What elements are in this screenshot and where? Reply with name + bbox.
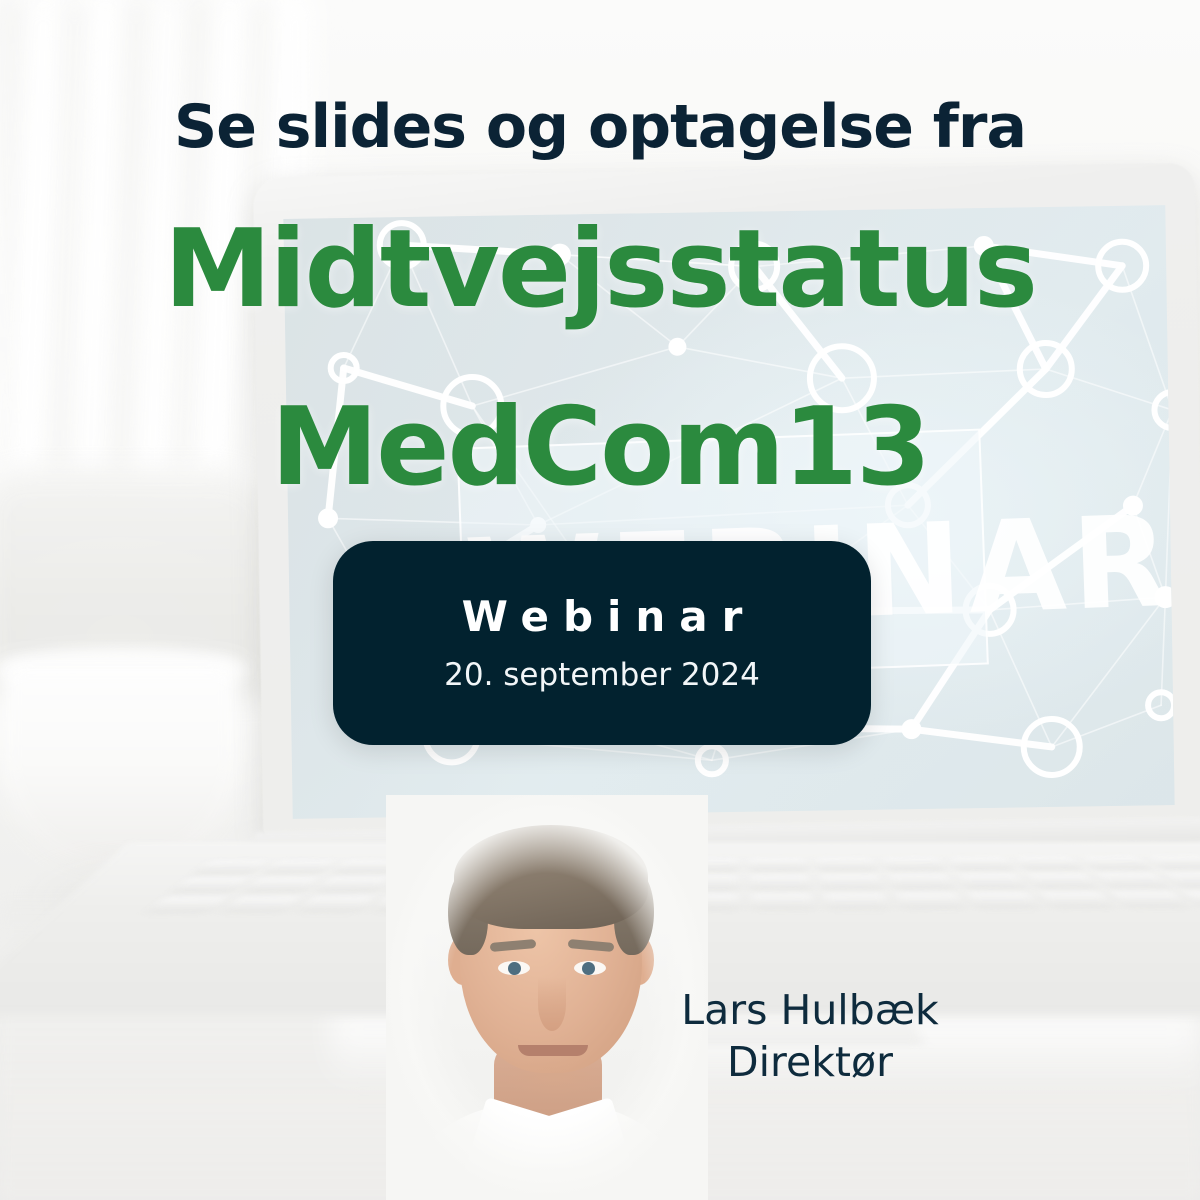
- webinar-badge-date: 20. september 2024: [444, 658, 760, 692]
- page-title-line-2: MedCom13: [0, 394, 1200, 502]
- webinar-badge-label: Webinar: [462, 594, 757, 640]
- speaker-role: Direktør: [610, 1037, 1010, 1089]
- speaker-caption: Lars Hulbæk Direktør: [610, 985, 1010, 1088]
- webinar-badge: Webinar 20. september 2024: [333, 541, 871, 745]
- page-kicker: Se slides og optagelse fra: [0, 96, 1200, 158]
- coffee-cup: [0, 660, 240, 870]
- speaker-name: Lars Hulbæk: [610, 985, 1010, 1037]
- page-title-line-1: Midtvejsstatus: [0, 216, 1200, 324]
- poster-canvas: WEBINAR Se slides og optagelse fra Midtv…: [0, 0, 1200, 1200]
